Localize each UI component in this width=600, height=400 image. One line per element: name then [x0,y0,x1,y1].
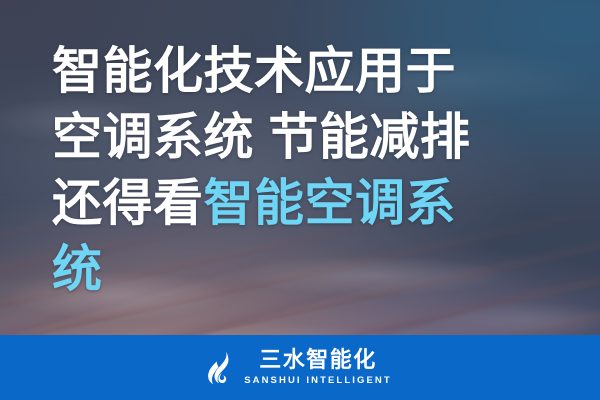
brand-name-en: SANSHUI INTELLIGENT [244,376,392,386]
brand-name-cn: 三水智能化 [259,349,377,371]
headline-title: 智能化技术应用于 空调系统 节能减排 还得看智能空调系 统 [52,38,552,302]
headline-line-4-highlight-text: 统 [52,241,103,297]
headline-line-3: 还得看智能空调系 [52,170,552,236]
headline-line-4: 统 [52,236,552,302]
poster-canvas: 智能化技术应用于 空调系统 节能减排 还得看智能空调系 统 三水智能化 SANS… [0,0,600,400]
headline-line-3-plain-text: 还得看 [52,175,204,231]
headline-line-3-highlight-text: 智能空调系 [204,175,457,231]
footer-brand-bar: 三水智能化 SANSHUI INTELLIGENT [0,335,600,400]
headline-line-2-text: 空调系统 节能减排 [52,109,470,165]
headline-line-2: 空调系统 节能减排 [52,104,552,170]
water-droplet-flame-icon [208,351,235,385]
brand-logo: 三水智能化 SANSHUI INTELLIGENT [208,349,392,386]
headline-line-1: 智能化技术应用于 [52,38,552,104]
headline-line-1-text: 智能化技术应用于 [52,43,456,99]
brand-text-block: 三水智能化 SANSHUI INTELLIGENT [244,349,392,386]
